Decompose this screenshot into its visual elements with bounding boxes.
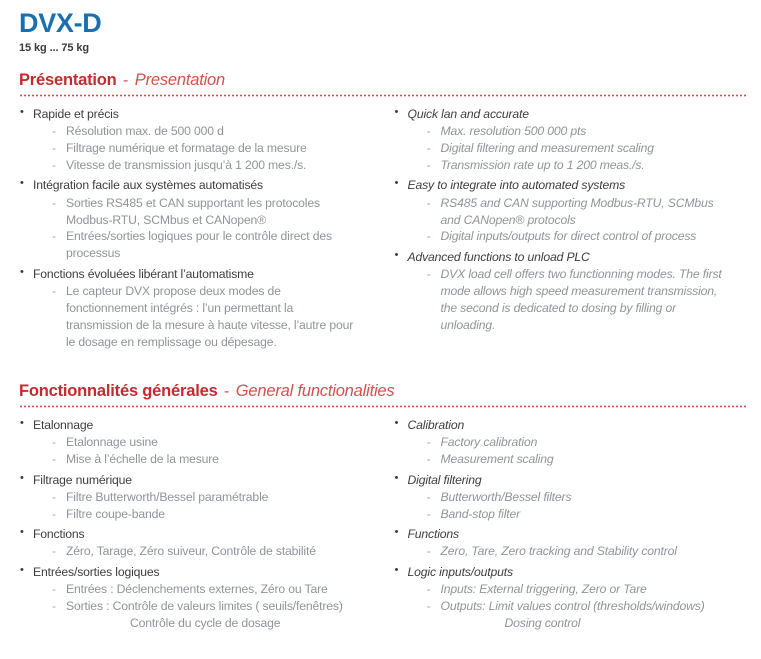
sub-list-item: Digital inputs/outputs for direct contro… <box>391 228 738 244</box>
column-english: CalibrationFactory calibrationMeasuremen… <box>381 417 746 635</box>
bullet-heading: Advanced functions to unload PLC <box>391 249 738 265</box>
bullet-heading: Rapide et précis <box>16 106 373 122</box>
sub-list-item: Digital filtering and measurement scalin… <box>391 140 738 156</box>
sub-list-item: Factory calibration <box>391 434 738 450</box>
sub-list-item: Outputs: Limit values control (threshold… <box>391 598 738 614</box>
sub-list-item: processus <box>16 245 373 261</box>
sub-list-item: the second is dedicated to dosing by fil… <box>391 300 738 316</box>
sub-list-item: Résolution max. de 500 000 d <box>16 123 373 139</box>
bullet-heading: Intégration facile aux systèmes automati… <box>16 177 373 193</box>
list-item: Digital filteringButterworth/Bessel filt… <box>391 472 738 523</box>
sub-list-item: Sorties RS485 et CAN supportant les prot… <box>16 195 373 211</box>
list-item: Filtrage numériqueFiltre Butterworth/Bes… <box>16 472 373 523</box>
bullet-list: EtalonnageEtalonnage usineMise à l’échel… <box>16 417 373 631</box>
two-column-body: Rapide et précisRésolution max. de 500 0… <box>16 106 745 354</box>
sub-list-item: Zéro, Tarage, Zéro suiveur, Contrôle de … <box>16 543 373 559</box>
sub-list-item: Inputs: External triggering, Zero or Tar… <box>391 581 738 597</box>
sub-list-item: Le capteur DVX propose deux modes de <box>16 283 373 299</box>
sub-list: Factory calibrationMeasurement scaling <box>391 434 738 467</box>
bullet-heading: Quick lan and accurate <box>391 106 738 122</box>
page-title: DVX-D <box>19 9 745 37</box>
section-heading-fr: Fonctionnalités générales <box>19 382 218 400</box>
sub-list-item: Modbus-RTU, SCMbus et CANopen® <box>16 212 373 228</box>
sub-list-item: Max. resolution 500 000 pts <box>391 123 738 139</box>
section-general-functionalities: Fonctionnalités générales - General func… <box>16 382 745 635</box>
sub-list-item: and CANopen® protocols <box>391 212 738 228</box>
section-heading: Fonctionnalités générales - General func… <box>19 382 745 401</box>
section-heading-en: General functionalities <box>236 382 395 400</box>
list-item: Rapide et précisRésolution max. de 500 0… <box>16 106 373 174</box>
document-page: DVX-D 15 kg ... 75 kg Présentation - Pre… <box>0 9 761 659</box>
list-item: Logic inputs/outputsInputs: External tri… <box>391 564 738 632</box>
sub-list-item: Entrées/sorties logiques pour le contrôl… <box>16 228 373 244</box>
section-heading-fr: Présentation <box>19 71 117 89</box>
column-english: Quick lan and accurateMax. resolution 50… <box>381 106 746 354</box>
sub-list: RS485 and CAN supporting Modbus-RTU, SCM… <box>391 195 738 245</box>
column-french: Rapide et précisRésolution max. de 500 0… <box>16 106 381 354</box>
sub-list: Etalonnage usineMise à l’échelle de la m… <box>16 434 373 467</box>
bullet-heading: Easy to integrate into automated systems <box>391 177 738 193</box>
sub-list-item: transmission de la mesure à haute vitess… <box>16 317 373 333</box>
list-item: Easy to integrate into automated systems… <box>391 177 738 245</box>
list-item: Quick lan and accurateMax. resolution 50… <box>391 106 738 174</box>
sub-list: Butterworth/Bessel filtersBand-stop filt… <box>391 489 738 522</box>
list-item: FunctionsZero, Tare, Zero tracking and S… <box>391 526 738 560</box>
list-item: Advanced functions to unload PLCDVX load… <box>391 249 738 333</box>
sub-list-item: RS485 and CAN supporting Modbus-RTU, SCM… <box>391 195 738 211</box>
bullet-heading: Fonctions <box>16 526 373 542</box>
sub-list-item: Zero, Tare, Zero tracking and Stability … <box>391 543 738 559</box>
bullet-heading: Logic inputs/outputs <box>391 564 738 580</box>
sub-list-item: le dosage en remplissage ou dépesage. <box>16 334 373 350</box>
sub-list-item: Measurement scaling <box>391 451 738 467</box>
sub-list-item: Band-stop filter <box>391 506 738 522</box>
sub-list-item: Filtre Butterworth/Bessel paramétrable <box>16 489 373 505</box>
sub-list-item: Etalonnage usine <box>16 434 373 450</box>
sub-list-item: Mise à l’échelle de la mesure <box>16 451 373 467</box>
sub-list-item: Transmission rate up to 1 200 meas./s. <box>391 157 738 173</box>
sub-list: Zero, Tare, Zero tracking and Stability … <box>391 543 738 559</box>
sub-list-item: mode allows high speed measurement trans… <box>391 283 738 299</box>
bullet-list: CalibrationFactory calibrationMeasuremen… <box>391 417 738 631</box>
sub-list-item: Filtre coupe-bande <box>16 506 373 522</box>
sub-list-item: Butterworth/Bessel filters <box>391 489 738 505</box>
sub-list: Le capteur DVX propose deux modes defonc… <box>16 283 373 350</box>
bullet-heading: Entrées/sorties logiques <box>16 564 373 580</box>
sub-list-item: fonctionnement intégrés : l’un permettan… <box>16 300 373 316</box>
column-french: EtalonnageEtalonnage usineMise à l’échel… <box>16 417 381 635</box>
sub-list-item: Vitesse de transmission jusqu’à 1 200 me… <box>16 157 373 173</box>
sub-list: DVX load cell offers two functionning mo… <box>391 266 738 333</box>
list-item: Entrées/sorties logiquesEntrées : Déclen… <box>16 564 373 632</box>
dotted-separator-rule <box>19 405 746 408</box>
bullet-heading: Functions <box>391 526 738 542</box>
list-item: CalibrationFactory calibrationMeasuremen… <box>391 417 738 468</box>
sub-list-item: Entrées : Déclenchements externes, Zéro … <box>16 581 373 597</box>
sub-list: Sorties RS485 et CAN supportant les prot… <box>16 195 373 262</box>
two-column-body: EtalonnageEtalonnage usineMise à l’échel… <box>16 417 745 635</box>
bullet-list: Rapide et précisRésolution max. de 500 0… <box>16 106 373 350</box>
bullet-list: Quick lan and accurateMax. resolution 50… <box>391 106 738 333</box>
section-heading-separator: - <box>117 72 135 89</box>
capacity-range-label: 15 kg ... 75 kg <box>19 42 745 54</box>
section-heading: Présentation - Presentation <box>19 71 745 90</box>
sub-list-item: Dosing control <box>391 615 738 631</box>
bullet-heading: Filtrage numérique <box>16 472 373 488</box>
bullet-heading: Etalonnage <box>16 417 373 433</box>
dotted-separator-rule <box>19 94 746 97</box>
bullet-heading: Digital filtering <box>391 472 738 488</box>
list-item: Fonctions évoluées libérant l’automatism… <box>16 266 373 350</box>
bullet-heading: Fonctions évoluées libérant l’automatism… <box>16 266 373 282</box>
list-item: EtalonnageEtalonnage usineMise à l’échel… <box>16 417 373 468</box>
list-item: FonctionsZéro, Tarage, Zéro suiveur, Con… <box>16 526 373 560</box>
sub-list: Entrées : Déclenchements externes, Zéro … <box>16 581 373 631</box>
section-presentation: Présentation - PresentationRapide et pré… <box>16 71 745 354</box>
list-item: Intégration facile aux systèmes automati… <box>16 177 373 261</box>
sub-list-item: Filtrage numérique et formatage de la me… <box>16 140 373 156</box>
sub-list: Résolution max. de 500 000 dFiltrage num… <box>16 123 373 173</box>
section-heading-separator: - <box>218 383 236 400</box>
sub-list-item: unloading. <box>391 317 738 333</box>
bullet-heading: Calibration <box>391 417 738 433</box>
sub-list-item: DVX load cell offers two functionning mo… <box>391 266 738 282</box>
sub-list: Filtre Butterworth/Bessel paramétrableFi… <box>16 489 373 522</box>
sub-list: Zéro, Tarage, Zéro suiveur, Contrôle de … <box>16 543 373 559</box>
section-heading-en: Presentation <box>135 71 225 89</box>
sub-list: Max. resolution 500 000 ptsDigital filte… <box>391 123 738 173</box>
sub-list: Inputs: External triggering, Zero or Tar… <box>391 581 738 631</box>
sub-list-item: Contrôle du cycle de dosage <box>16 615 373 631</box>
sub-list-item: Sorties : Contrôle de valeurs limites ( … <box>16 598 373 614</box>
